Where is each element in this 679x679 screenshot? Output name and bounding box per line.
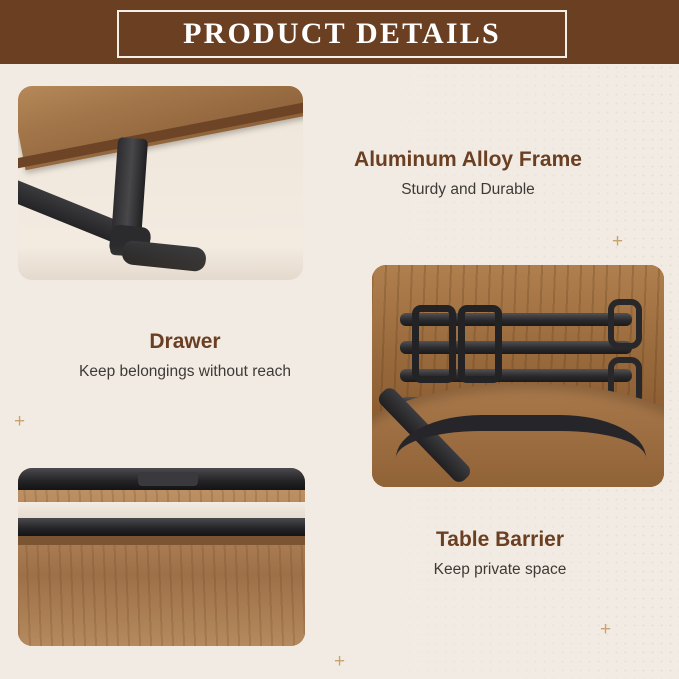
desktop-edge-shape bbox=[18, 536, 305, 545]
feature-subtitle: Keep private space bbox=[350, 561, 650, 579]
wood-grain-surface bbox=[18, 468, 305, 646]
photo-table-barrier bbox=[18, 468, 305, 646]
feature-title: Aluminum Alloy Frame bbox=[318, 148, 618, 172]
header-bar: PRODUCT DETAILS bbox=[0, 0, 679, 64]
barrier-rail-shape bbox=[18, 518, 305, 536]
product-details-page: PRODUCT DETAILS + + + + bbox=[0, 0, 679, 679]
caption-table-barrier: Table Barrier Keep private space bbox=[350, 528, 650, 579]
page-title: PRODUCT DETAILS bbox=[183, 17, 501, 51]
plus-decoration-icon: + bbox=[600, 620, 611, 639]
feature-title: Drawer bbox=[30, 330, 340, 354]
plus-decoration-icon: + bbox=[14, 412, 25, 431]
photo-drawer bbox=[372, 265, 664, 487]
caption-drawer: Drawer Keep belongings without reach bbox=[30, 330, 340, 381]
feature-title: Table Barrier bbox=[350, 528, 650, 552]
drawer-slot-shape bbox=[608, 299, 642, 349]
photo-aluminum-alloy-frame bbox=[18, 86, 303, 280]
barrier-clip-shape bbox=[138, 472, 198, 486]
caption-aluminum-alloy-frame: Aluminum Alloy Frame Sturdy and Durable bbox=[318, 148, 618, 199]
plus-decoration-icon: + bbox=[334, 652, 345, 671]
barrier-gap-shape bbox=[18, 502, 305, 518]
feature-subtitle: Keep belongings without reach bbox=[30, 363, 340, 381]
feature-subtitle: Sturdy and Durable bbox=[318, 181, 618, 199]
floor-shadow bbox=[18, 246, 303, 280]
drawer-bracket-shape bbox=[412, 305, 456, 383]
curved-metal-bar-shape bbox=[396, 415, 646, 487]
header-title-frame: PRODUCT DETAILS bbox=[117, 10, 567, 58]
plus-decoration-icon: + bbox=[612, 232, 623, 251]
drawer-bracket-shape bbox=[458, 305, 502, 383]
